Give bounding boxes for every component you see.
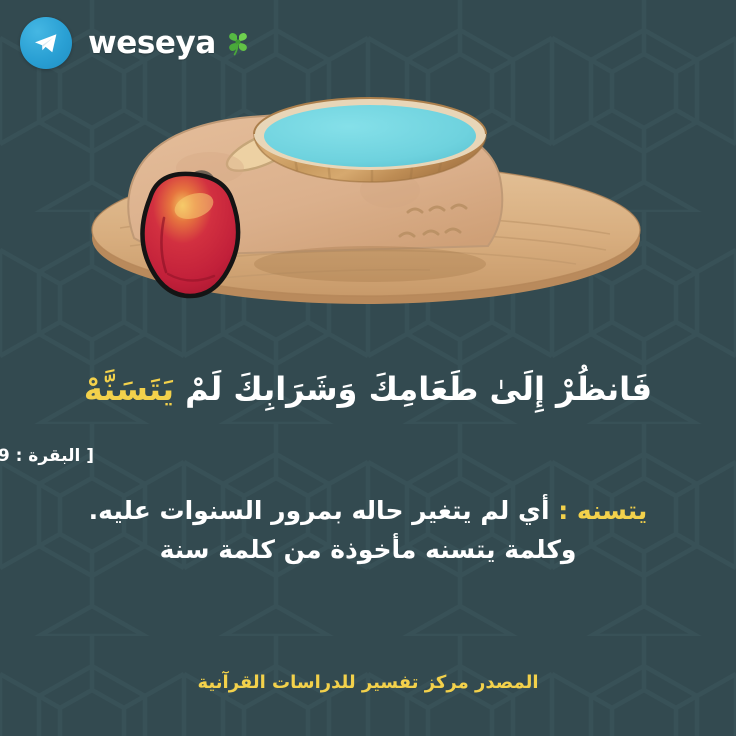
verse-text-plain: فَانظُرْ إِلَىٰ طَعَامِكَ وَشَرَابِكَ لَ…	[174, 370, 652, 408]
brand-header: weseya	[0, 0, 736, 86]
apple	[142, 174, 238, 296]
explanation-term: يتسنه	[577, 496, 647, 525]
source-credit: المصدر مركز تفسير للدراسات القرآنية	[198, 672, 539, 693]
explanation-line-1-rest: أي لم يتغير حاله بمرور السنوات عليه.	[89, 496, 550, 525]
brand-name: weseya	[88, 28, 216, 59]
explanation-line-1: يتسنه : أي لم يتغير حاله بمرور السنوات ع…	[0, 492, 736, 531]
verse-reference-row: [ البقرة : 259 ]	[0, 446, 736, 466]
quran-verse-card: weseya	[0, 0, 736, 736]
footer: المصدر مركز تفسير للدراسات القرآنية	[0, 672, 736, 693]
explanation-separator: :	[550, 496, 577, 525]
four-leaf-clover-icon	[222, 27, 254, 59]
quran-verse: فَانظُرْ إِلَىٰ طَعَامِكَ وَشَرَابِكَ لَ…	[0, 366, 736, 412]
explanation-block: يتسنه : أي لم يتغير حاله بمرور السنوات ع…	[0, 492, 736, 570]
telegram-icon[interactable]	[20, 17, 72, 69]
verse-highlight-word: يَتَسَنَّهْ	[84, 370, 174, 408]
explanation-line-2: وكلمة يتسنه مأخوذة من كلمة سنة	[0, 531, 736, 570]
food-and-drink-illustration	[90, 78, 650, 328]
verse-block: فَانظُرْ إِلَىٰ طَعَامِكَ وَشَرَابِكَ لَ…	[0, 366, 736, 412]
verse-reference: [ البقرة : 259 ]	[0, 446, 94, 466]
